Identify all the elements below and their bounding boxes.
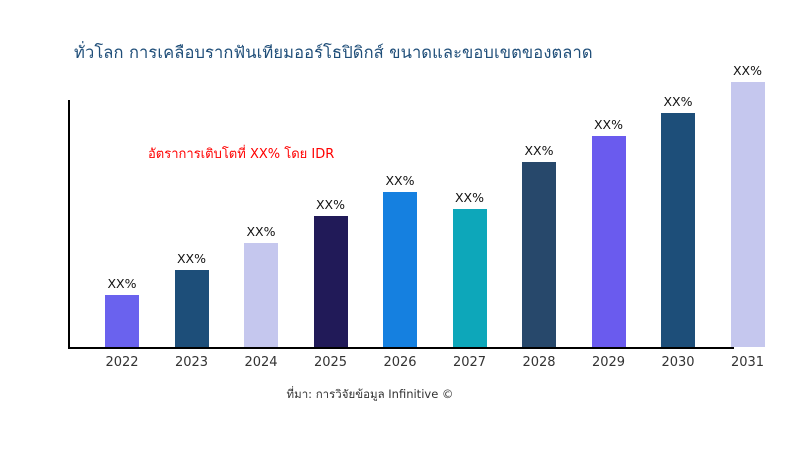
bar-2027 bbox=[453, 209, 487, 347]
x-axis-tick-labels: 2022202320242025202620272028202920302031 bbox=[68, 355, 800, 375]
bar-value-label: XX% bbox=[161, 251, 223, 266]
bar-value-label: XX% bbox=[300, 197, 362, 212]
x-tick-2026: 2026 bbox=[369, 355, 431, 370]
bar-value-label: XX% bbox=[91, 276, 153, 291]
x-tick-2024: 2024 bbox=[230, 355, 292, 370]
x-tick-2025: 2025 bbox=[300, 355, 362, 370]
bar-value-label: XX% bbox=[578, 117, 640, 132]
bar-2031 bbox=[731, 82, 765, 348]
bars-layer: XX%XX%XX%XX%XX%XX%XX%XX%XX%XX% bbox=[68, 60, 800, 349]
x-tick-2023: 2023 bbox=[161, 355, 223, 370]
bar-value-label: XX% bbox=[439, 190, 501, 205]
x-tick-2022: 2022 bbox=[91, 355, 153, 370]
bar-value-label: XX% bbox=[369, 173, 431, 188]
x-tick-2030: 2030 bbox=[647, 355, 709, 370]
bar-2024 bbox=[244, 243, 278, 347]
chart-canvas: ทั่วโลก การเคลือบรากฟันเทียมออร์โธปิดิกส… bbox=[0, 0, 800, 450]
bar-value-label: XX% bbox=[508, 143, 570, 158]
bar-value-label: XX% bbox=[230, 224, 292, 239]
bar-value-label: XX% bbox=[647, 94, 709, 109]
source-note: ที่มา: การวิจัยข้อมูล Infinitive © bbox=[0, 386, 740, 404]
bar-2028 bbox=[522, 162, 556, 348]
x-tick-2029: 2029 bbox=[578, 355, 640, 370]
x-tick-2028: 2028 bbox=[508, 355, 570, 370]
bar-2030 bbox=[661, 113, 695, 347]
bar-2025 bbox=[314, 216, 348, 347]
bar-2022 bbox=[105, 295, 139, 347]
bar-2026 bbox=[383, 192, 417, 348]
x-tick-2031: 2031 bbox=[717, 355, 779, 370]
bar-2023 bbox=[175, 270, 209, 348]
x-tick-2027: 2027 bbox=[439, 355, 501, 370]
bar-value-label: XX% bbox=[717, 63, 779, 78]
bar-2029 bbox=[592, 136, 626, 347]
